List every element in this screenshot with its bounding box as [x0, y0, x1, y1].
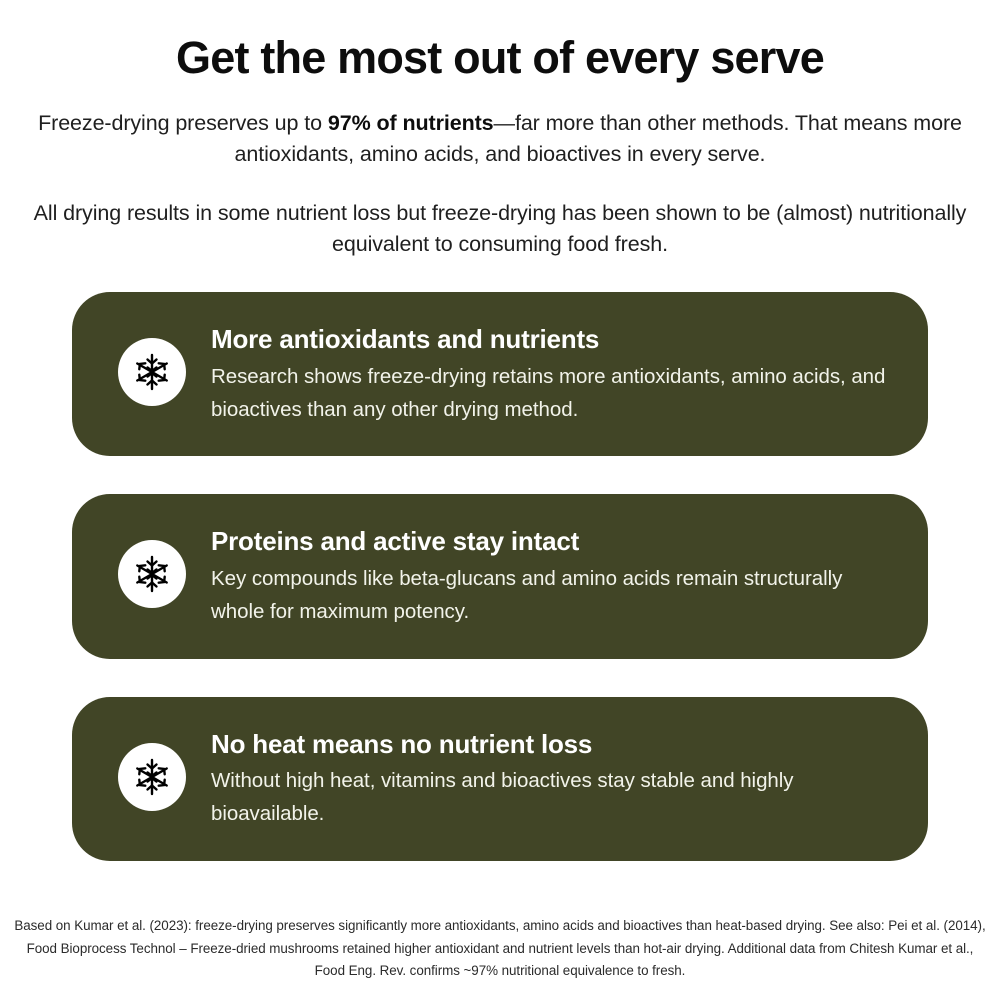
card-title: More antioxidants and nutrients: [211, 324, 894, 356]
card-description: Key compounds like beta-glucans and amin…: [211, 562, 894, 628]
page-title: Get the most out of every serve: [0, 0, 1000, 81]
benefit-card-antioxidants: More antioxidants and nutrients Research…: [72, 292, 928, 456]
benefit-card-list: More antioxidants and nutrients Research…: [0, 292, 1000, 860]
snowflake-icon: [118, 338, 186, 406]
snowflake-icon: [118, 540, 186, 608]
intro-block: Freeze-drying preserves up to 97% of nut…: [0, 108, 1000, 259]
intro-paragraph-2: All drying results in some nutrient loss…: [28, 198, 972, 259]
card-title: No heat means no nutrient loss: [211, 729, 894, 761]
card-body: Proteins and active stay intact Key comp…: [211, 524, 894, 628]
benefit-card-no-heat: No heat means no nutrient loss Without h…: [72, 697, 928, 861]
card-description: Without high heat, vitamins and bioactiv…: [211, 764, 894, 830]
benefit-card-proteins: Proteins and active stay intact Key comp…: [72, 494, 928, 658]
intro-highlight-97-percent: 97% of nutrients: [328, 111, 494, 135]
intro-paragraph-1: Freeze-drying preserves up to 97% of nut…: [28, 108, 972, 169]
infographic-page: Get the most out of every serve Freeze-d…: [0, 0, 1000, 1000]
intro-paragraph-1-lead: Freeze-drying preserves up to: [38, 111, 328, 135]
source-footnote: Based on Kumar et al. (2023): freeze-dry…: [0, 915, 1000, 982]
card-body: No heat means no nutrient loss Without h…: [211, 727, 894, 831]
card-body: More antioxidants and nutrients Research…: [211, 322, 894, 426]
snowflake-icon: [118, 743, 186, 811]
card-title: Proteins and active stay intact: [211, 526, 894, 558]
card-description: Research shows freeze-drying retains mor…: [211, 360, 894, 426]
